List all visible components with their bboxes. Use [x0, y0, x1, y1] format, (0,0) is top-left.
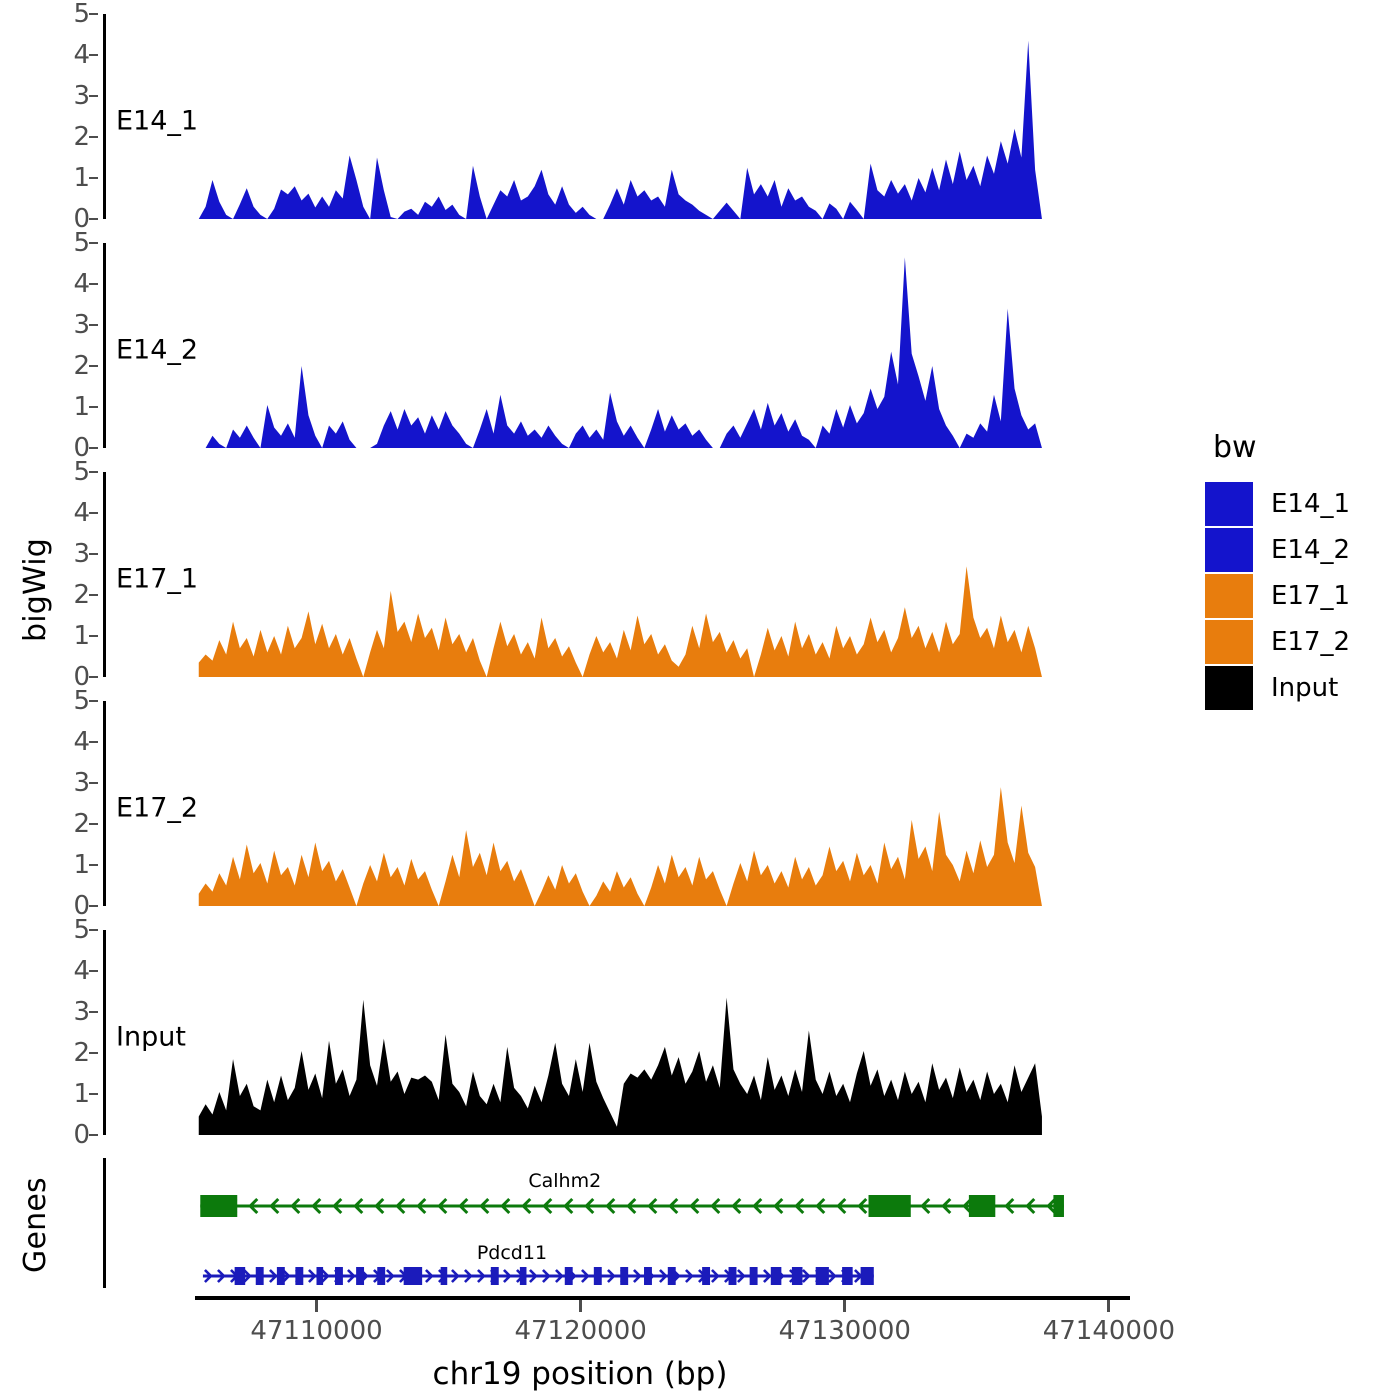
y-tick-mark — [89, 324, 98, 326]
y-axis-input: 012345 — [0, 916, 106, 1145]
y-tick-label: 5 — [73, 459, 90, 485]
y-tick-mark — [89, 905, 98, 907]
gene-exon — [729, 1267, 737, 1285]
x-axis: 47110000471200004713000047140000 chr19 p… — [0, 1296, 1160, 1396]
signal-area-e17_1 — [199, 566, 1042, 677]
gene-exon — [702, 1267, 710, 1285]
plot-area-e17_1 — [106, 458, 1160, 687]
y-tick-mark — [89, 635, 98, 637]
y-tick-label: 3 — [73, 999, 90, 1025]
gene-exon — [620, 1267, 628, 1285]
track-label-input: Input — [116, 1023, 186, 1050]
y-tick-mark — [89, 1011, 98, 1013]
gene-model-pdcd11[interactable]: Pdcd11 — [203, 1242, 874, 1285]
y-tick-mark — [89, 1052, 98, 1054]
gene-exon — [491, 1267, 499, 1285]
legend-items: E14_1E14_2E17_1E17_2Input — [1205, 481, 1395, 711]
gene-exon — [842, 1267, 853, 1285]
y-tick-mark — [89, 1134, 98, 1136]
legend-swatch-e14_1 — [1205, 482, 1253, 526]
y-tick-label: 2 — [73, 1040, 90, 1066]
y-tick-label: 2 — [73, 124, 90, 150]
track-label-e14_2: E14_2 — [116, 336, 198, 363]
y-tick-mark — [89, 283, 98, 285]
track-label-e17_1: E17_1 — [116, 565, 198, 592]
gene-exon — [644, 1267, 652, 1285]
y-tick-label: 3 — [73, 312, 90, 338]
gene-exon — [1053, 1195, 1064, 1217]
y-tick-mark — [89, 13, 98, 15]
legend-label: E14_2 — [1271, 535, 1350, 565]
gene-exon — [256, 1267, 264, 1285]
gene-exon — [565, 1267, 573, 1285]
legend-swatch-e14_2 — [1205, 528, 1253, 572]
y-tick-mark — [89, 177, 98, 179]
y-axis-e14_2: 012345 — [0, 229, 106, 458]
legend-title: bw — [1213, 430, 1395, 465]
bigwig-panel-e14_2: 012345E14_2 — [0, 229, 1160, 458]
gene-exon — [816, 1267, 829, 1285]
signal-area-e14_1 — [199, 41, 1042, 219]
y-tick-label: 5 — [73, 917, 90, 943]
legend: bw E14_1E14_2E17_1E17_2Input — [1205, 430, 1395, 711]
y-tick-mark — [89, 406, 98, 408]
gene-backbone — [200, 1205, 1064, 1208]
gene-exon — [668, 1267, 676, 1285]
signal-area-e14_2 — [199, 257, 1042, 448]
y-tick-mark — [89, 447, 98, 449]
y-tick-mark — [89, 95, 98, 97]
bigwig-panel-input: 012345Input — [0, 916, 1160, 1145]
gene-exon — [235, 1267, 246, 1285]
y-tick-mark — [89, 594, 98, 596]
gene-exon — [771, 1267, 782, 1285]
plot-area-e14_2 — [106, 229, 1160, 458]
y-tick-label: 2 — [73, 811, 90, 837]
gene-exon — [520, 1267, 527, 1285]
gene-exon — [335, 1267, 343, 1285]
y-tick-mark — [89, 676, 98, 678]
y-tick-mark — [89, 929, 98, 931]
gene-label-calhm2: Calhm2 — [528, 1170, 601, 1192]
y-tick-label: 3 — [73, 83, 90, 109]
x-tick-label: 47120000 — [514, 1316, 646, 1346]
y-tick-label: 3 — [73, 541, 90, 567]
bigwig-track-stack: 012345E14_1012345E14_2012345E17_1012345E… — [0, 0, 1160, 1145]
y-tick-mark — [89, 471, 98, 473]
y-tick-label: 4 — [73, 958, 90, 984]
legend-swatch-e17_1 — [1205, 574, 1253, 618]
y-tick-label: 1 — [73, 165, 90, 191]
y-tick-mark — [89, 553, 98, 555]
x-tick-mark — [843, 1300, 846, 1312]
gene-exon — [295, 1267, 303, 1285]
gene-exon — [792, 1267, 803, 1285]
gene-track-plot-area: Calhm2Pdcd11 — [106, 1148, 1160, 1300]
y-tick-mark — [89, 864, 98, 866]
y-axis-e17_1: 012345 — [0, 458, 106, 687]
track-label-e14_1: E14_1 — [116, 107, 198, 134]
x-axis-line — [195, 1296, 1130, 1300]
y-tick-label: 4 — [73, 271, 90, 297]
signal-area-e17_2 — [199, 787, 1042, 906]
y-tick-label: 5 — [73, 688, 90, 714]
y-tick-label: 1 — [73, 623, 90, 649]
legend-item-input[interactable]: Input — [1205, 665, 1395, 711]
legend-label: E14_1 — [1271, 489, 1350, 519]
gene-exon — [316, 1267, 323, 1285]
y-tick-label: 4 — [73, 729, 90, 755]
gene-exon — [441, 1267, 448, 1285]
gene-track-panel: Calhm2Pdcd11 — [0, 1148, 1160, 1300]
y-tick-mark — [89, 54, 98, 56]
y-tick-mark — [89, 823, 98, 825]
y-tick-mark — [89, 136, 98, 138]
gene-exon — [594, 1267, 602, 1285]
y-tick-label: 3 — [73, 770, 90, 796]
signal-area-input — [199, 998, 1042, 1135]
y-tick-label: 0 — [73, 1122, 90, 1148]
legend-label: E17_1 — [1271, 581, 1350, 611]
gene-exon — [277, 1267, 285, 1285]
legend-item-e14_2[interactable]: E14_2 — [1205, 527, 1395, 573]
plot-area-input — [106, 916, 1160, 1145]
y-tick-label: 1 — [73, 1081, 90, 1107]
y-tick-mark — [89, 365, 98, 367]
gene-exon — [404, 1267, 422, 1285]
bigwig-panel-e17_2: 012345E17_2 — [0, 687, 1160, 916]
x-tick-mark — [315, 1300, 318, 1312]
gene-exon — [869, 1195, 911, 1217]
y-tick-mark — [89, 782, 98, 784]
y-tick-label: 5 — [73, 1, 90, 27]
x-tick-label: 47110000 — [250, 1316, 382, 1346]
legend-item-e17_2[interactable]: E17_2 — [1205, 619, 1395, 665]
x-tick-label: 47140000 — [1043, 1316, 1175, 1346]
y-axis-e14_1: 012345 — [0, 0, 106, 229]
x-axis-title: chr19 position (bp) — [0, 1356, 1160, 1392]
gene-label-pdcd11: Pdcd11 — [477, 1242, 547, 1264]
gene-exon — [861, 1267, 874, 1285]
gene-exon — [750, 1267, 758, 1285]
gene-exon — [200, 1195, 237, 1217]
y-tick-label: 2 — [73, 582, 90, 608]
x-tick-label: 47130000 — [779, 1316, 911, 1346]
y-tick-label: 5 — [73, 230, 90, 256]
y-tick-mark — [89, 741, 98, 743]
y-axis-e17_2: 012345 — [0, 687, 106, 916]
gene-model-calhm2[interactable]: Calhm2 — [200, 1170, 1064, 1217]
x-tick-mark — [1107, 1300, 1110, 1312]
bigwig-panel-e17_1: 012345E17_1 — [0, 458, 1160, 687]
y-tick-label: 4 — [73, 42, 90, 68]
y-tick-label: 4 — [73, 500, 90, 526]
y-tick-mark — [89, 242, 98, 244]
legend-swatch-input — [1205, 666, 1253, 710]
y-tick-mark — [89, 970, 98, 972]
legend-item-e17_1[interactable]: E17_1 — [1205, 573, 1395, 619]
legend-label: Input — [1271, 673, 1338, 703]
x-tick-mark — [579, 1300, 582, 1312]
gene-exon — [969, 1195, 995, 1217]
y-tick-mark — [89, 512, 98, 514]
gene-exon — [356, 1267, 364, 1285]
track-label-e17_2: E17_2 — [116, 794, 198, 821]
y-tick-label: 1 — [73, 394, 90, 420]
legend-swatch-e17_2 — [1205, 620, 1253, 664]
bigwig-panel-e14_1: 012345E14_1 — [0, 0, 1160, 229]
y-tick-mark — [89, 700, 98, 702]
y-tick-label: 1 — [73, 852, 90, 878]
y-tick-mark — [89, 1093, 98, 1095]
y-tick-label: 2 — [73, 353, 90, 379]
gene-exon — [377, 1267, 385, 1285]
legend-item-e14_1[interactable]: E14_1 — [1205, 481, 1395, 527]
plot-area-e17_2 — [106, 687, 1160, 916]
plot-area-e14_1 — [106, 0, 1160, 229]
legend-label: E17_2 — [1271, 627, 1350, 657]
y-tick-mark — [89, 218, 98, 220]
